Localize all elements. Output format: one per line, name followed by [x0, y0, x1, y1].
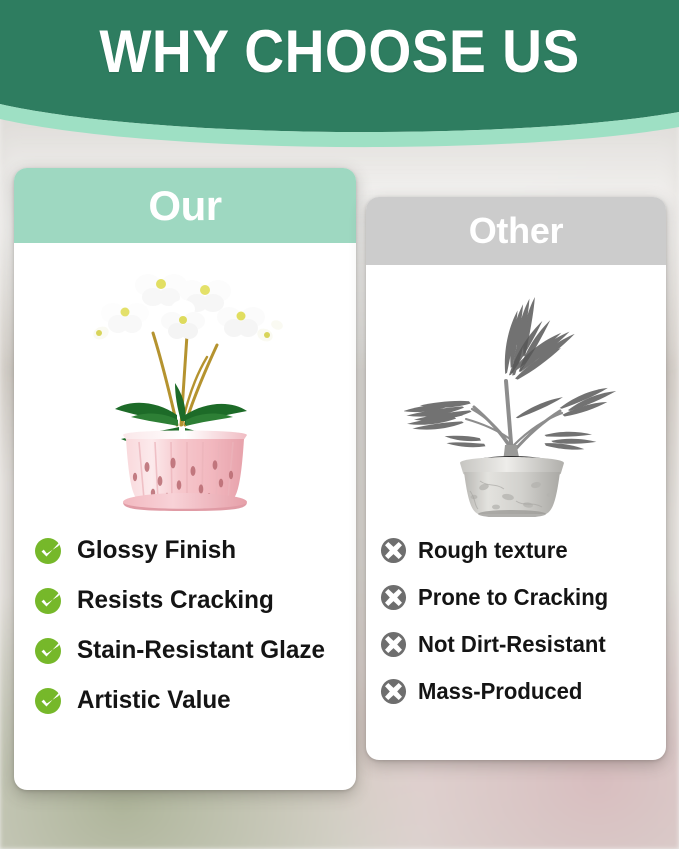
palm-illustration	[404, 269, 628, 517]
feature-item: Resists Cracking	[34, 575, 356, 625]
feature-label: Resists Cracking	[77, 586, 274, 615]
check-circle-icon	[34, 685, 64, 715]
feature-list-other: Rough texture Prone to Cracking Not Dirt…	[380, 527, 666, 715]
feature-item: Artistic Value	[34, 675, 356, 725]
page-title: WHY CHOOSE US	[27, 20, 652, 83]
feature-item: Rough texture	[380, 527, 666, 574]
feature-label: Artistic Value	[77, 686, 231, 715]
feature-label: Not Dirt-Resistant	[418, 631, 606, 658]
feature-label: Glossy Finish	[77, 536, 236, 565]
feature-item: Prone to Cracking	[380, 574, 666, 621]
comparison-card-our: Our	[14, 168, 356, 790]
card-body-other: Rough texture Prone to Cracking Not Dirt…	[366, 265, 666, 715]
feature-item: Mass-Produced	[380, 668, 666, 715]
product-image-our	[14, 243, 356, 511]
x-circle-icon	[380, 584, 407, 611]
check-circle-icon	[34, 635, 64, 665]
x-circle-icon	[380, 537, 407, 564]
feature-list-our: Glossy Finish Resists Cracking Stain-Res…	[34, 525, 356, 725]
orchid-illustration	[65, 249, 305, 511]
card-header-other: Other	[366, 197, 666, 265]
feature-item: Glossy Finish	[34, 525, 356, 575]
x-circle-icon	[380, 631, 407, 658]
feature-item: Stain-Resistant Glaze	[34, 625, 356, 675]
card-body-our: Glossy Finish Resists Cracking Stain-Res…	[14, 243, 356, 725]
card-header-our: Our	[14, 168, 356, 243]
x-circle-icon	[380, 678, 407, 705]
feature-item: Not Dirt-Resistant	[380, 621, 666, 668]
comparison-card-other: Other	[366, 197, 666, 760]
check-circle-icon	[34, 535, 64, 565]
feature-label: Mass-Produced	[418, 678, 582, 705]
feature-label: Prone to Cracking	[418, 584, 608, 611]
header-banner: WHY CHOOSE US	[0, 0, 679, 160]
feature-label: Rough texture	[418, 537, 568, 564]
feature-label: Stain-Resistant Glaze	[77, 636, 325, 665]
check-circle-icon	[34, 585, 64, 615]
product-image-other	[366, 265, 666, 517]
comparison-infographic: WHY CHOOSE US Our	[0, 0, 679, 849]
